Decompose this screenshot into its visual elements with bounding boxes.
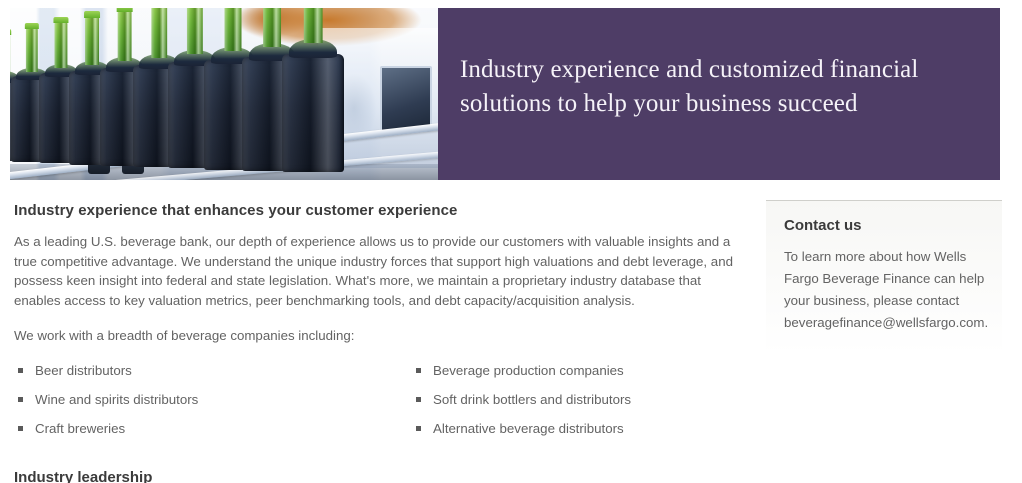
contact-us-title: Contact us xyxy=(784,217,994,234)
page-title: Industry experience that enhances your c… xyxy=(14,202,742,219)
contact-us-body: To learn more about how Wells Fargo Beve… xyxy=(784,246,994,334)
list-item: Alternative beverage distributors xyxy=(412,420,631,437)
list-item: Soft drink bottlers and distributors xyxy=(412,391,631,408)
hero-photo-bottling-line xyxy=(10,8,438,180)
list-item: Craft breweries xyxy=(14,420,412,437)
main-column: Industry experience that enhances your c… xyxy=(14,202,742,449)
list-item: Beverage production companies xyxy=(412,362,631,379)
beverage-company-lists: Beer distributorsWine and spirits distri… xyxy=(14,362,742,449)
hero-headline: Industry experience and customized finan… xyxy=(460,53,978,121)
list-right: Beverage production companiesSoft drink … xyxy=(412,362,631,449)
contact-us-panel: Contact us To learn more about how Wells… xyxy=(766,200,1002,354)
next-section-title: Industry leadership xyxy=(14,469,152,483)
page-root: Industry experience and customized finan… xyxy=(0,0,1022,483)
wine-bottle xyxy=(282,8,344,172)
list-left: Beer distributorsWine and spirits distri… xyxy=(14,362,412,449)
list-item: Wine and spirits distributors xyxy=(14,391,412,408)
bottle-row xyxy=(10,8,438,180)
list-intro: We work with a breadth of beverage compa… xyxy=(14,326,742,346)
hero-banner: Industry experience and customized finan… xyxy=(10,8,1000,180)
intro-paragraph: As a leading U.S. beverage bank, our dep… xyxy=(14,232,742,310)
hero-headline-panel: Industry experience and customized finan… xyxy=(438,8,1000,180)
list-item: Beer distributors xyxy=(14,362,412,379)
